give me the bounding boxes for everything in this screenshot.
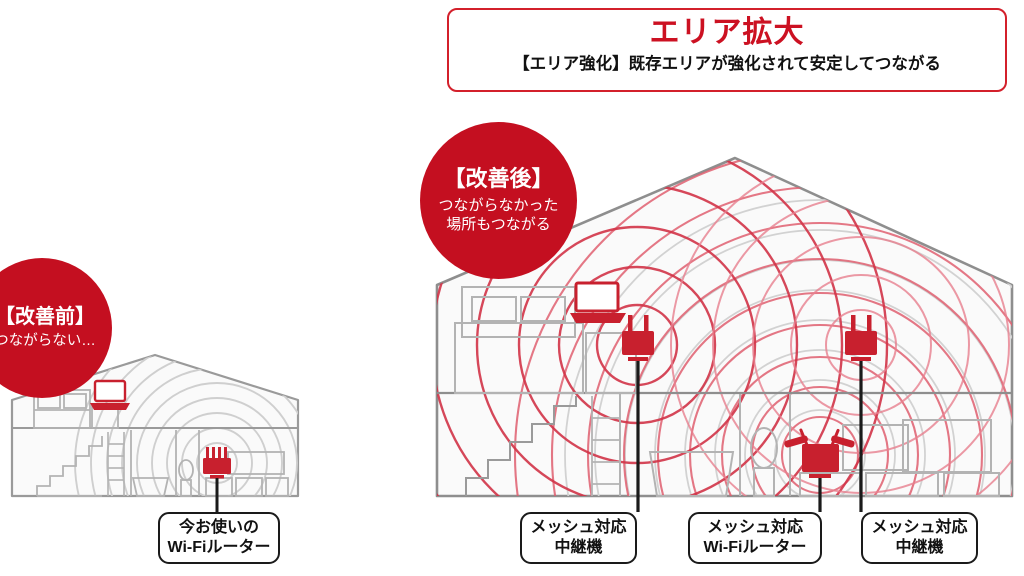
callout-left-router-line1: 今お使いの	[179, 518, 259, 538]
callout-router-center-line2: Wi-Fiルーター	[704, 538, 807, 558]
callout-left-router-line2: Wi-Fiルーター	[168, 538, 271, 558]
callout-extender-left-line2: 中継機	[554, 538, 602, 558]
badge-after-line2: 場所もつながる	[446, 216, 550, 235]
header-subtitle: 【エリア強化】既存エリアが強化されて安定してつながる	[449, 55, 1005, 73]
left-laptop	[90, 381, 130, 410]
callout-extender-right-line1: メッシュ対応	[871, 518, 967, 538]
badge-after: 【改善後】 つながらなかった 場所もつながる	[420, 122, 577, 279]
callout-extender-right-line2: 中継機	[895, 538, 943, 558]
badge-before-title: 【改善前】	[0, 306, 96, 328]
callout-extender-right: メッシュ対応 中継機	[861, 512, 978, 564]
callout-extender-left-line1: メッシュ対応	[530, 518, 626, 538]
callout-router-center: メッシュ対応 Wi-Fiルーター	[688, 512, 822, 564]
badge-after-title: 【改善後】	[443, 167, 553, 191]
header-title: エリア拡大	[449, 17, 1005, 49]
infographic-stage: エリア拡大 【エリア強化】既存エリアが強化されて安定してつながる 【改善前】 つ…	[0, 0, 1024, 576]
callout-router-center-line1: メッシュ対応	[707, 518, 803, 538]
callout-left-router: 今お使いの Wi-Fiルーター	[158, 512, 280, 564]
badge-before-line1: つながらない…	[0, 332, 96, 350]
header-banner: エリア拡大 【エリア強化】既存エリアが強化されて安定してつながる	[447, 8, 1007, 92]
right-laptop	[570, 283, 626, 323]
callout-extender-left: メッシュ対応 中継機	[520, 512, 637, 564]
badge-after-line1: つながらなかった	[438, 197, 558, 216]
